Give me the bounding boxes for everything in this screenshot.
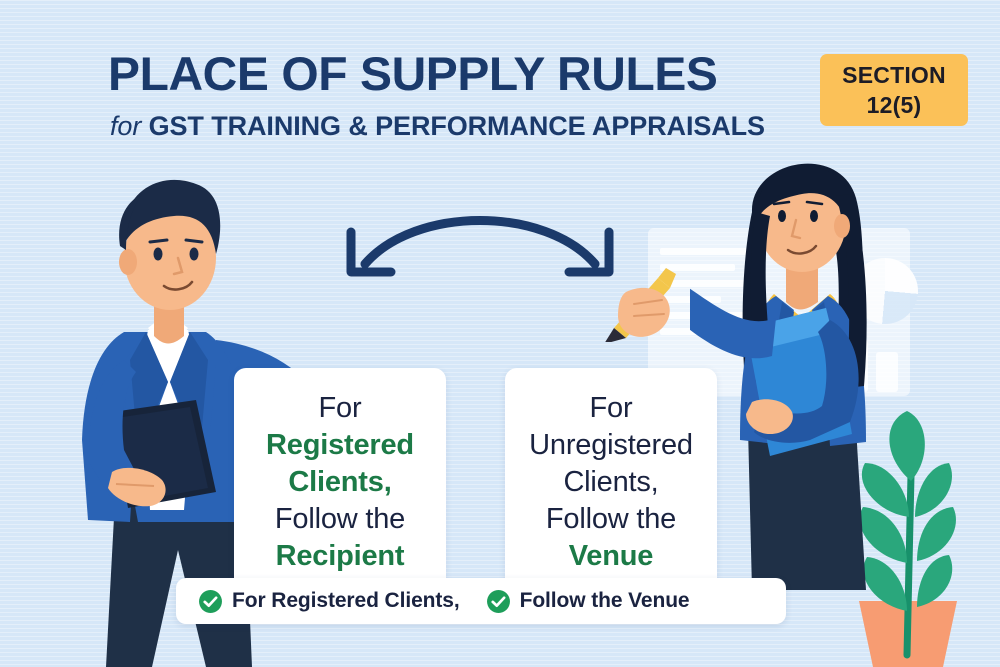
card-line: For: [266, 390, 414, 427]
summary-item-label: Follow the Venue: [520, 589, 690, 613]
page-subtitle: for GST TRAINING & PERFORMANCE APPRAISAL…: [110, 108, 765, 144]
summary-item-label: For Registered Clients,: [232, 589, 460, 613]
check-circle-icon: [486, 589, 511, 614]
double-headed-arrow-icon: [335, 192, 625, 297]
card-unregistered: For Unregistered Clients, Follow the Ven…: [505, 368, 717, 590]
summary-item-venue: Follow the Venue: [486, 589, 690, 614]
subtitle-prefix: for: [110, 111, 149, 141]
card-registered-text: For Registered Clients, Follow the Recip…: [266, 390, 414, 575]
card-line: Recipient: [266, 538, 414, 575]
card-line: Registered: [266, 427, 414, 464]
summary-item-registered: For Registered Clients,: [198, 589, 460, 614]
section-badge-line1: SECTION: [820, 60, 968, 90]
card-line: Follow the: [266, 501, 414, 538]
card-line: For: [529, 390, 693, 427]
summary-bar: For Registered Clients, Follow the Venue: [176, 578, 786, 624]
page-title: PLACE OF SUPPLY RULES: [108, 46, 717, 102]
card-line: Clients,: [529, 464, 693, 501]
card-line: Follow the: [529, 501, 693, 538]
subtitle-main: GST TRAINING & PERFORMANCE APPRAISALS: [149, 111, 765, 141]
section-badge-line2: 12(5): [820, 90, 968, 120]
card-unregistered-text: For Unregistered Clients, Follow the Ven…: [529, 390, 693, 575]
header: PLACE OF SUPPLY RULES SECTION 12(5) for …: [0, 46, 1000, 110]
right-person-illustration: [690, 150, 910, 595]
card-line: Unregistered: [529, 427, 693, 464]
card-line: Venue: [529, 538, 693, 575]
card-line: Clients,: [266, 464, 414, 501]
section-badge: SECTION 12(5): [820, 54, 968, 126]
check-circle-icon: [198, 589, 223, 614]
infographic-canvas: PLACE OF SUPPLY RULES SECTION 12(5) for …: [0, 0, 1000, 667]
card-registered: For Registered Clients, Follow the Recip…: [234, 368, 446, 590]
